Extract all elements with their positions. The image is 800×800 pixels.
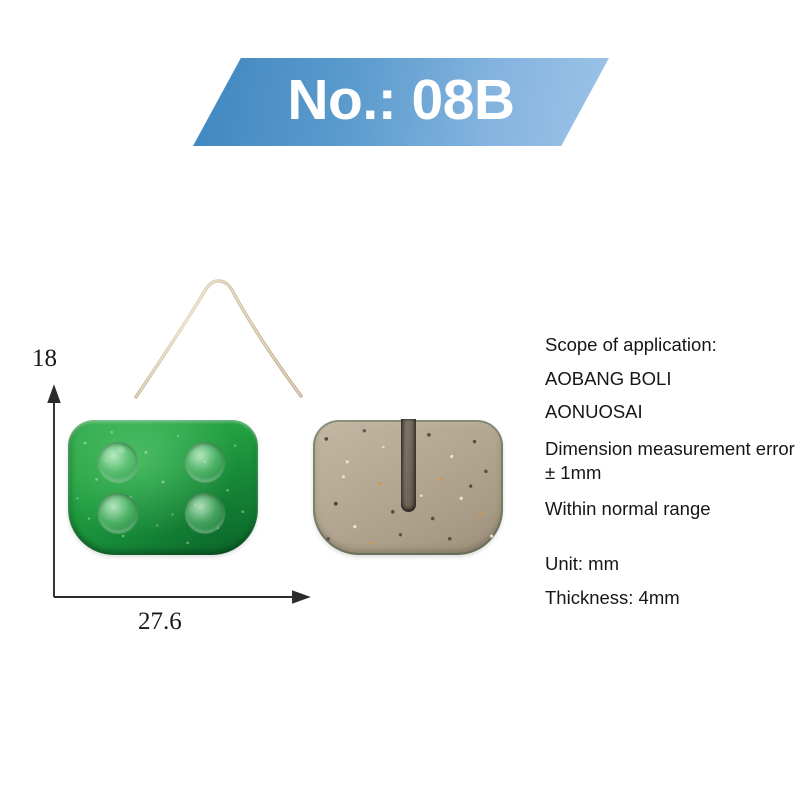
- tolerance-note: Dimension measurement error ± 1mm: [545, 437, 795, 485]
- unit-note: Unit: mm: [545, 555, 795, 574]
- green-backing-plate: [68, 420, 258, 555]
- center-slot: [401, 419, 416, 512]
- product-number-label: No.: 08B: [287, 72, 514, 132]
- dimple-top-right: [185, 442, 225, 482]
- dimple-bottom-left: [98, 493, 138, 533]
- friction-material-pad: [313, 420, 503, 555]
- dimple-top-left: [98, 442, 138, 482]
- product-number-banner: No.: 08B: [193, 58, 609, 146]
- width-arrowhead: [293, 592, 308, 603]
- height-arrowhead: [49, 387, 60, 402]
- width-dimension-label: 27.6: [138, 608, 182, 636]
- normal-range-note: Within normal range: [545, 500, 795, 519]
- thickness-note: Thickness: 4mm: [545, 589, 795, 608]
- brand-aonuosai: AONUOSAI: [545, 403, 795, 422]
- info-spacer: [545, 533, 795, 555]
- brand-aobang-boli: AOBANG BOLI: [545, 370, 795, 389]
- dimple-bottom-right: [185, 493, 225, 533]
- scope-of-application-title: Scope of application:: [545, 336, 795, 355]
- height-dimension-label: 18: [32, 345, 57, 373]
- product-spec-page: No.: 08B 18 27.6: [0, 0, 800, 800]
- specification-text-block: Scope of application: AOBANG BOLI AONUOS…: [545, 336, 795, 622]
